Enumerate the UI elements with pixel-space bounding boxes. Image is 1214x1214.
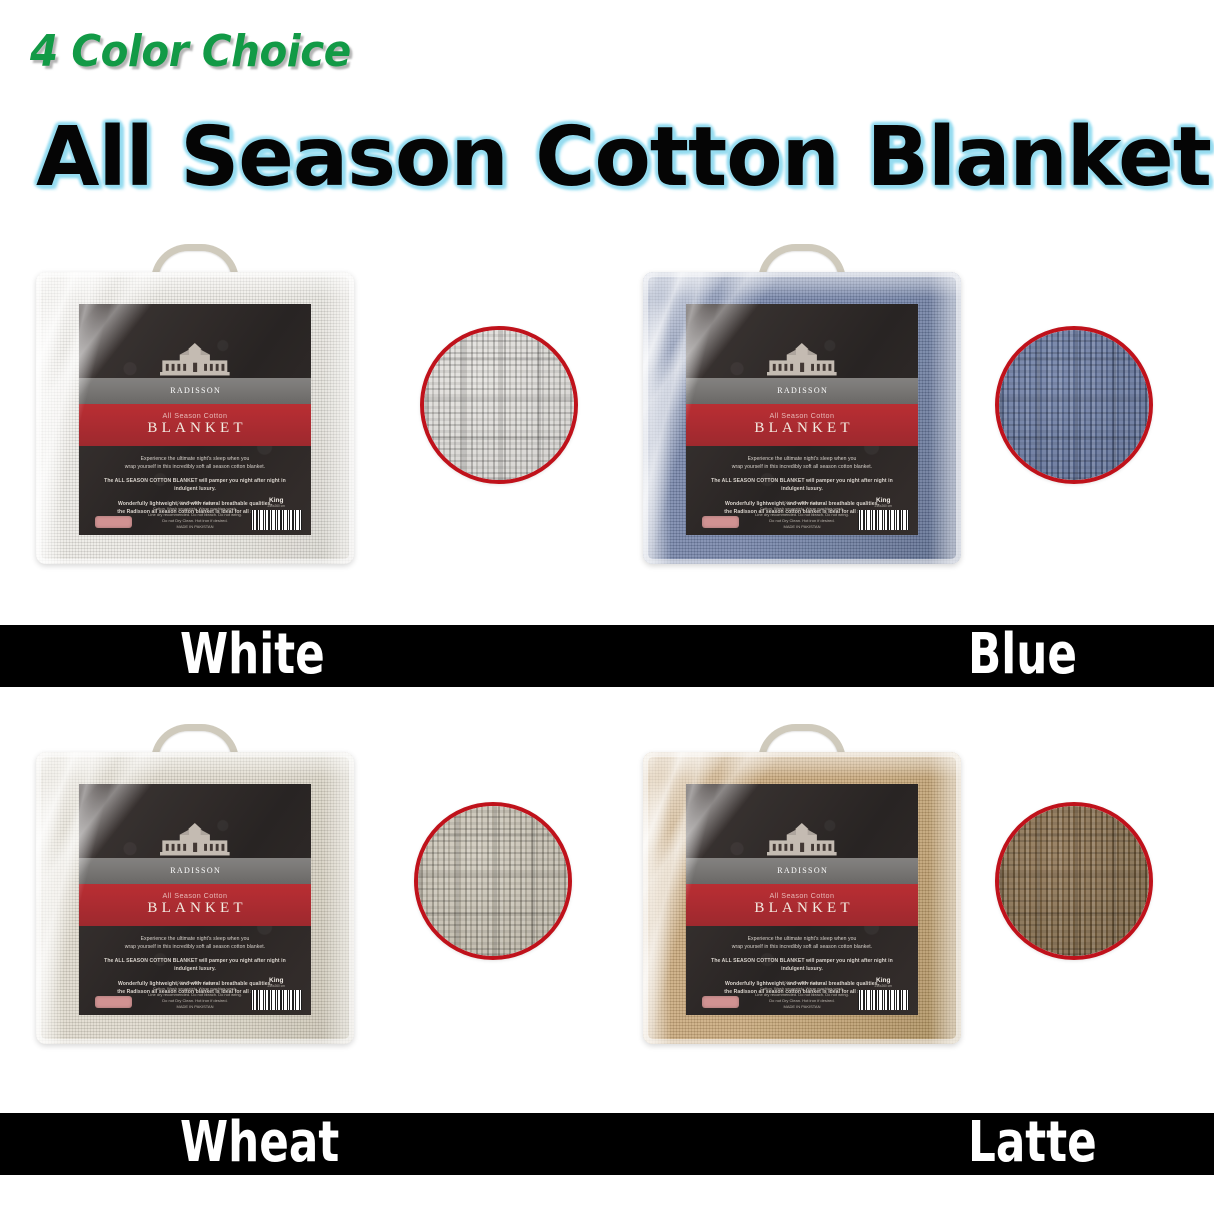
care-instructions: 100% Sky/Blue Cotton Cotton. Wash separa… <box>730 500 874 530</box>
care-instructions: 100% Sky/Blue Cotton Cotton. Wash separa… <box>123 500 267 530</box>
fabric-swatch-white[interactable] <box>420 326 578 484</box>
label-subtitle-big: BLANKET <box>143 899 247 918</box>
label-subtitle-big: BLANKET <box>750 419 854 438</box>
description-line-3: The ALL SEASON COTTON BLANKET will pampe… <box>100 957 290 974</box>
description-line-1: Experience the ultimate night's sleep wh… <box>100 935 290 943</box>
package-latte: RADISSON All Season Cotton BLANKET Exper… <box>643 726 961 1044</box>
brand-name: RADISSON <box>776 867 828 875</box>
label-subtitle-small: All Season Cotton <box>163 892 228 900</box>
swatch-weave-grid <box>424 330 574 480</box>
label-subtitle-small: All Season Cotton <box>770 412 835 420</box>
product-label: RADISSON All Season Cotton BLANKET Exper… <box>79 304 311 535</box>
care-line-5: MADE IN PAKISTAN <box>123 524 267 530</box>
brand-band: RADISSON <box>79 378 311 405</box>
label-color-swatch <box>95 996 132 1008</box>
label-color-swatch <box>702 996 739 1008</box>
care-line-5: MADE IN PAKISTAN <box>123 1004 267 1010</box>
care-instructions: 100% Sky/Blue Cotton Cotton. Wash separa… <box>730 980 874 1010</box>
size-label: King <box>251 497 302 504</box>
product-band: All Season Cotton BLANKET <box>686 404 918 446</box>
swatch-weave-grid <box>418 806 568 956</box>
description-line-3: The ALL SEASON COTTON BLANKET will pampe… <box>100 477 290 494</box>
barcode-icon <box>251 990 302 1010</box>
size-dimensions: 240x260 cm <box>251 504 302 508</box>
product-label: RADISSON All Season Cotton BLANKET Exper… <box>686 784 918 1015</box>
product-cell-latte[interactable]: RADISSON All Season Cotton BLANKET Exper… <box>607 712 1214 1100</box>
brand-name: RADISSON <box>776 387 828 395</box>
plastic-bag: RADISSON All Season Cotton BLANKET Exper… <box>36 272 354 564</box>
kicker-text: 4 Color Choice <box>30 26 351 77</box>
fabric-swatch-blue[interactable] <box>995 326 1153 484</box>
care-line-5: MADE IN PAKISTAN <box>730 524 874 530</box>
description-line-3: The ALL SEASON COTTON BLANKET will pampe… <box>707 957 897 974</box>
label-description: Experience the ultimate night's sleep wh… <box>686 926 918 1015</box>
product-band: All Season Cotton BLANKET <box>686 884 918 926</box>
fabric-swatch-wheat[interactable] <box>414 802 572 960</box>
barcode-icon <box>858 510 909 530</box>
plastic-bag: RADISSON All Season Cotton BLANKET Exper… <box>36 752 354 1044</box>
color-name-band-top: White Blue <box>0 625 1214 687</box>
label-color-swatch <box>95 516 132 528</box>
swatch-weave-grid <box>999 806 1149 956</box>
brand-name: RADISSON <box>169 867 221 875</box>
color-name-wheat: Wheat <box>180 1115 339 1171</box>
size-dimensions: 240x260 cm <box>251 984 302 988</box>
description-line-2: wrap yourself in this incredibly soft al… <box>100 943 290 951</box>
brand-name: RADISSON <box>169 387 221 395</box>
product-band: All Season Cotton BLANKET <box>79 884 311 926</box>
label-subtitle-small: All Season Cotton <box>770 892 835 900</box>
package-blue: RADISSON All Season Cotton BLANKET Exper… <box>643 246 961 564</box>
care-instructions: 100% Sky/Blue Cotton Cotton. Wash separa… <box>123 980 267 1010</box>
label-description: Experience the ultimate night's sleep wh… <box>79 446 311 535</box>
care-line-5: MADE IN PAKISTAN <box>730 1004 874 1010</box>
plastic-bag: RADISSON All Season Cotton BLANKET Exper… <box>643 272 961 564</box>
product-band: All Season Cotton BLANKET <box>79 404 311 446</box>
palace-building-icon <box>160 343 230 375</box>
palace-building-icon <box>767 823 837 855</box>
page-title: All Season Cotton Blanket <box>36 110 1211 205</box>
color-name-white: White <box>180 627 325 683</box>
brand-logo <box>686 304 918 378</box>
swatch-weave-grid <box>999 330 1149 480</box>
brand-band: RADISSON <box>686 378 918 405</box>
package-white: RADISSON All Season Cotton BLANKET Exper… <box>36 246 354 564</box>
color-name-band-bottom: Wheat Latte <box>0 1113 1214 1175</box>
palace-building-icon <box>160 823 230 855</box>
label-subtitle-big: BLANKET <box>750 899 854 918</box>
description-line-1: Experience the ultimate night's sleep wh… <box>707 935 897 943</box>
brand-logo <box>79 784 311 858</box>
size-dimensions: 240x260 cm <box>858 504 909 508</box>
product-row-bottom: RADISSON All Season Cotton BLANKET Exper… <box>0 712 1214 1100</box>
size-dimensions: 240x260 cm <box>858 984 909 988</box>
description-line-1: Experience the ultimate night's sleep wh… <box>707 455 897 463</box>
size-block: King 240x260 cm <box>858 497 909 530</box>
label-description: Experience the ultimate night's sleep wh… <box>79 926 311 1015</box>
product-cell-blue[interactable]: RADISSON All Season Cotton BLANKET Exper… <box>607 232 1214 625</box>
brand-band: RADISSON <box>79 858 311 885</box>
size-block: King 240x260 cm <box>858 977 909 1010</box>
size-label: King <box>858 977 909 984</box>
product-cell-white[interactable]: RADISSON All Season Cotton BLANKET Exper… <box>0 232 607 625</box>
size-label: King <box>251 977 302 984</box>
size-block: King 240x260 cm <box>251 497 302 530</box>
product-row-top: RADISSON All Season Cotton BLANKET Exper… <box>0 232 1214 625</box>
color-name-blue: Blue <box>968 627 1077 683</box>
package-wheat: RADISSON All Season Cotton BLANKET Exper… <box>36 726 354 1044</box>
description-line-1: Experience the ultimate night's sleep wh… <box>100 455 290 463</box>
product-cell-wheat[interactable]: RADISSON All Season Cotton BLANKET Exper… <box>0 712 607 1100</box>
label-subtitle-big: BLANKET <box>143 419 247 438</box>
product-label: RADISSON All Season Cotton BLANKET Exper… <box>79 784 311 1015</box>
description-line-2: wrap yourself in this incredibly soft al… <box>707 943 897 951</box>
brand-logo <box>686 784 918 858</box>
size-label: King <box>858 497 909 504</box>
barcode-icon <box>251 510 302 530</box>
color-name-latte: Latte <box>968 1115 1097 1171</box>
brand-logo <box>79 304 311 378</box>
brand-band: RADISSON <box>686 858 918 885</box>
label-subtitle-small: All Season Cotton <box>163 412 228 420</box>
label-color-swatch <box>702 516 739 528</box>
label-description: Experience the ultimate night's sleep wh… <box>686 446 918 535</box>
size-block: King 240x260 cm <box>251 977 302 1010</box>
plastic-bag: RADISSON All Season Cotton BLANKET Exper… <box>643 752 961 1044</box>
product-label: RADISSON All Season Cotton BLANKET Exper… <box>686 304 918 535</box>
description-line-2: wrap yourself in this incredibly soft al… <box>707 463 897 471</box>
fabric-swatch-latte[interactable] <box>995 802 1153 960</box>
palace-building-icon <box>767 343 837 375</box>
description-line-2: wrap yourself in this incredibly soft al… <box>100 463 290 471</box>
description-line-3: The ALL SEASON COTTON BLANKET will pampe… <box>707 477 897 494</box>
header-block: 4 Color Choice All Season Cotton Blanket <box>0 0 1214 230</box>
barcode-icon <box>858 990 909 1010</box>
